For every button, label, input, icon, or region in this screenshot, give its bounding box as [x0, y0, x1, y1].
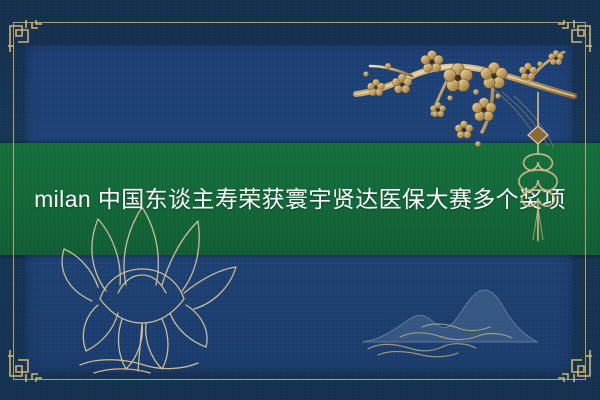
- corner-fretwork-top-right-icon: [554, 16, 594, 56]
- poster-headline: milan 中国东谈主寿荣获寰宇贤达医保大赛多个奖项: [0, 143, 600, 255]
- poster-canvas: milan 中国东谈主寿荣获寰宇贤达医保大赛多个奖项: [0, 0, 600, 400]
- corner-fretwork-bottom-left-icon: [6, 346, 46, 386]
- corner-fretwork-bottom-right-icon: [554, 346, 594, 386]
- corner-fretwork-top-left-icon: [6, 16, 46, 56]
